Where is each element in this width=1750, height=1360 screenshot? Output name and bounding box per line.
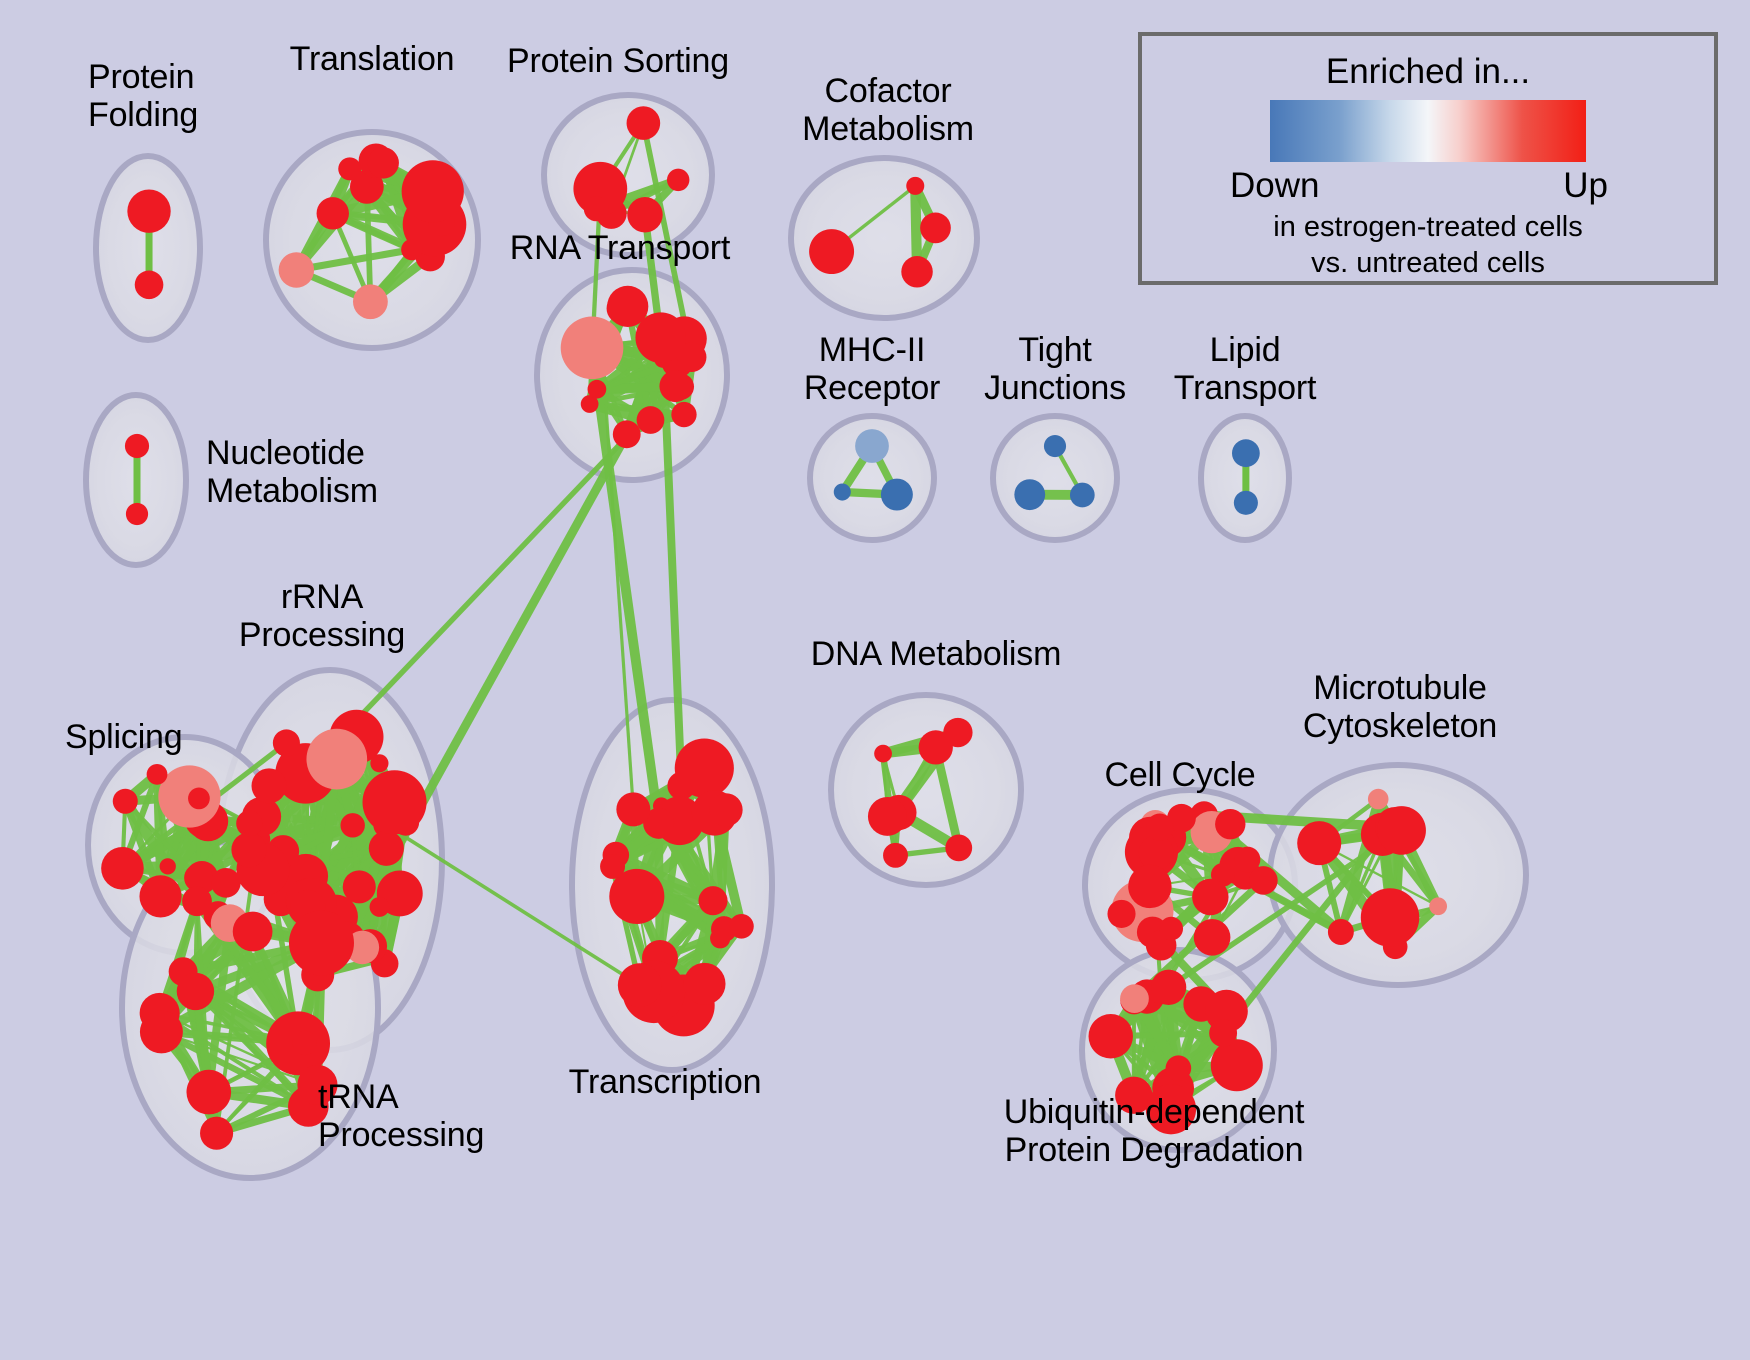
cluster-label-ubiquitin-protein-degradation: Ubiquitin-dependent Protein Degradation — [1004, 1093, 1305, 1169]
network-node[interactable] — [211, 868, 241, 898]
legend-low-label: Down — [1230, 166, 1319, 206]
cluster-label-splicing: Splicing — [65, 718, 182, 756]
cluster-label-protein-folding: Protein Folding — [88, 58, 198, 134]
network-node[interactable] — [1361, 888, 1420, 947]
network-node[interactable] — [370, 897, 390, 917]
legend-high-label: Up — [1563, 166, 1608, 206]
network-node[interactable] — [1014, 479, 1045, 510]
network-node[interactable] — [370, 754, 388, 772]
network-node[interactable] — [627, 106, 661, 140]
network-node[interactable] — [1209, 1019, 1237, 1047]
cluster-label-mhc-ii-receptor: MHC-II Receptor — [804, 331, 940, 407]
cluster-label-nucleotide-metabolism: Nucleotide Metabolism — [206, 434, 378, 510]
network-node[interactable] — [616, 792, 650, 826]
network-node[interactable] — [1328, 919, 1354, 945]
network-node[interactable] — [1128, 865, 1171, 908]
network-node[interactable] — [353, 284, 388, 319]
network-node[interactable] — [588, 380, 607, 399]
network-node[interactable] — [1159, 917, 1183, 941]
network-node[interactable] — [125, 434, 149, 458]
network-node[interactable] — [855, 429, 889, 463]
network-node[interactable] — [1089, 1014, 1133, 1058]
network-node[interactable] — [1215, 809, 1245, 839]
network-node[interactable] — [369, 831, 404, 866]
network-node[interactable] — [1070, 483, 1095, 508]
network-node[interactable] — [188, 788, 210, 810]
network-node[interactable] — [1192, 879, 1228, 915]
network-node[interactable] — [1211, 1039, 1263, 1091]
network-node[interactable] — [671, 402, 696, 427]
network-node[interactable] — [881, 479, 913, 511]
legend-title: Enriched in... — [1142, 52, 1714, 92]
network-node[interactable] — [340, 813, 364, 837]
network-node[interactable] — [874, 745, 892, 763]
network-node[interactable] — [363, 770, 427, 834]
network-node[interactable] — [684, 963, 726, 1005]
network-node[interactable] — [139, 875, 181, 917]
network-node[interactable] — [698, 886, 727, 915]
network-node[interactable] — [613, 420, 641, 448]
network-node[interactable] — [675, 739, 734, 798]
network-node[interactable] — [289, 910, 354, 975]
cluster-label-trna-processing: tRNA Processing — [318, 1078, 484, 1154]
network-node[interactable] — [1151, 970, 1186, 1005]
network-node[interactable] — [127, 190, 170, 233]
cluster-label-microtubule-cytoskeleton: Microtubule Cytoskeleton — [1303, 669, 1497, 745]
network-node[interactable] — [160, 858, 176, 874]
network-node[interactable] — [273, 729, 300, 756]
network-node[interactable] — [1044, 435, 1066, 457]
network-node[interactable] — [182, 886, 212, 916]
network-node[interactable] — [659, 370, 691, 402]
network-node[interactable] — [1120, 984, 1149, 1013]
network-node[interactable] — [113, 789, 138, 814]
network-node[interactable] — [338, 157, 361, 180]
cluster-label-rna-transport: RNA Transport — [510, 229, 730, 267]
network-node[interactable] — [186, 1070, 231, 1115]
cluster-label-rrna-processing: rRNA Processing — [239, 578, 405, 654]
network-node[interactable] — [1249, 866, 1278, 895]
cluster-label-dna-metabolism: DNA Metabolism — [811, 635, 1061, 673]
network-node[interactable] — [809, 229, 854, 274]
enrichment-network-figure: Protein Folding Translation Protein Sort… — [0, 0, 1750, 1360]
network-node[interactable] — [317, 197, 349, 229]
cluster-hull-tight-junctions — [993, 416, 1117, 540]
network-node[interactable] — [135, 270, 164, 299]
network-node[interactable] — [1297, 821, 1341, 865]
network-node[interactable] — [401, 239, 422, 260]
legend-caption-line2: vs. untreated cells — [1142, 246, 1714, 280]
network-node[interactable] — [343, 870, 376, 903]
network-node[interactable] — [635, 312, 686, 363]
network-node[interactable] — [1368, 789, 1389, 810]
network-node[interactable] — [252, 768, 287, 803]
network-node[interactable] — [200, 1117, 233, 1150]
network-node[interactable] — [101, 847, 144, 890]
network-node[interactable] — [231, 832, 266, 867]
cluster-hull-dna-metabolism — [831, 695, 1021, 885]
cluster-label-protein-sorting: Protein Sorting — [507, 42, 729, 80]
network-node[interactable] — [1107, 900, 1135, 928]
network-node[interactable] — [1234, 491, 1258, 515]
network-node[interactable] — [233, 912, 273, 952]
network-node[interactable] — [906, 177, 924, 195]
network-node[interactable] — [140, 1010, 183, 1053]
network-node[interactable] — [1194, 919, 1231, 956]
network-node[interactable] — [943, 718, 972, 747]
network-node[interactable] — [1146, 814, 1173, 841]
legend-endpoint-labels: Down Up — [1228, 166, 1628, 208]
network-node[interactable] — [868, 797, 907, 836]
network-node[interactable] — [710, 928, 730, 948]
network-node[interactable] — [1232, 439, 1260, 467]
network-node[interactable] — [627, 197, 662, 232]
network-node[interactable] — [1377, 806, 1426, 855]
network-node[interactable] — [279, 252, 314, 287]
legend-caption-line1: in estrogen-treated cells — [1142, 210, 1714, 244]
cluster-label-translation: Translation — [290, 40, 455, 78]
legend-panel: Enriched in... Down Up in estrogen-treat… — [1138, 32, 1718, 285]
network-node[interactable] — [667, 169, 689, 191]
network-node[interactable] — [920, 213, 951, 244]
network-node[interactable] — [709, 793, 742, 826]
network-node[interactable] — [1166, 1055, 1192, 1081]
network-node[interactable] — [177, 973, 214, 1010]
network-node[interactable] — [147, 764, 168, 785]
network-node[interactable] — [402, 160, 464, 222]
cluster-label-cell-cycle: Cell Cycle — [1104, 756, 1255, 794]
network-node[interactable] — [368, 147, 399, 178]
cluster-label-lipid-transport: Lipid Transport — [1174, 331, 1316, 407]
network-node[interactable] — [584, 196, 609, 221]
network-node[interactable] — [236, 810, 262, 836]
network-node[interactable] — [600, 854, 625, 879]
network-node[interactable] — [901, 256, 933, 288]
network-node[interactable] — [637, 406, 665, 434]
legend-color-gradient-bar — [1270, 100, 1586, 162]
cluster-label-tight-junctions: Tight Junctions — [984, 331, 1126, 407]
network-node[interactable] — [293, 1031, 317, 1055]
network-node[interactable] — [126, 503, 148, 525]
network-node[interactable] — [618, 963, 662, 1007]
network-node[interactable] — [945, 834, 972, 861]
network-node[interactable] — [1429, 897, 1447, 915]
network-node[interactable] — [834, 483, 851, 500]
cluster-label-transcription: Transcription — [569, 1063, 762, 1101]
network-node[interactable] — [1139, 835, 1174, 870]
network-node[interactable] — [561, 317, 624, 380]
network-node[interactable] — [729, 914, 754, 939]
cluster-label-cofactor-metabolism: Cofactor Metabolism — [802, 72, 974, 148]
network-node[interactable] — [883, 843, 908, 868]
network-node[interactable] — [306, 729, 367, 790]
